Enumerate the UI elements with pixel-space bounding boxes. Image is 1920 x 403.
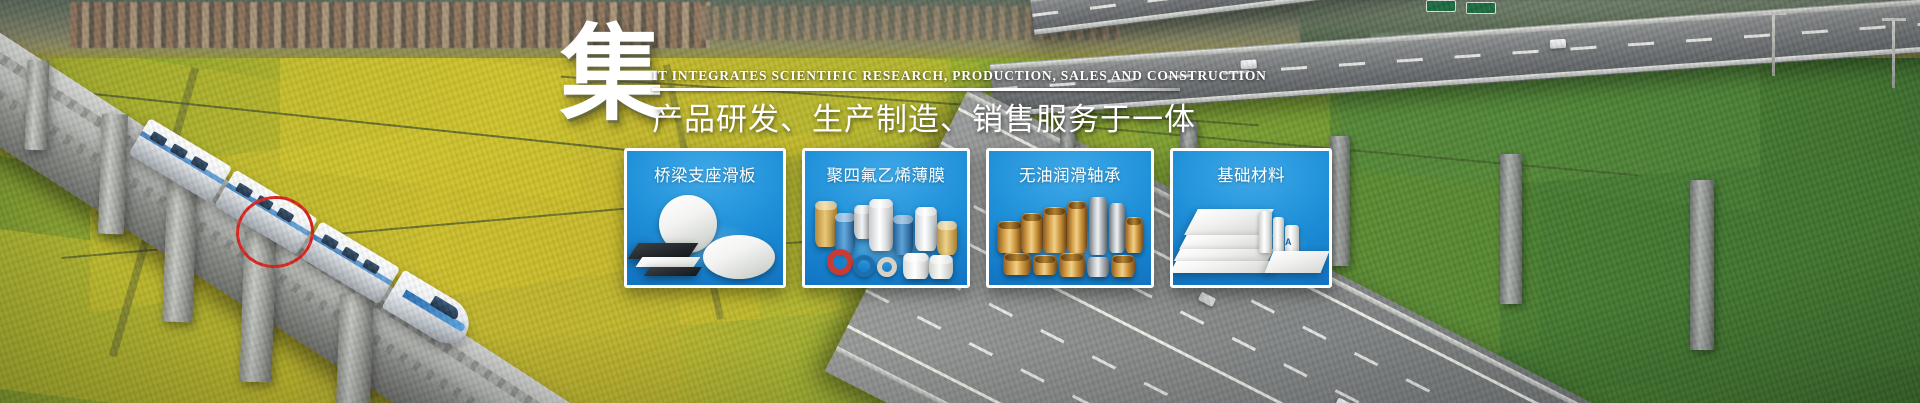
vehicle [1198,292,1216,307]
utility-pole [1772,12,1775,76]
bronze-bushing [997,221,1023,253]
bronze-bushing [1125,217,1143,253]
product-card-ptfe-film[interactable]: 聚四氟乙烯薄膜 [802,148,970,288]
material-sheet [1170,261,1278,273]
headline-block: 集 IT INTEGRATES SCIENTIFIC RESEARCH, PRO… [560,26,1180,136]
product-card-title: 无油润滑轴承 [989,151,1151,186]
highway-pier [1330,136,1350,266]
bronze-bushing [1043,207,1067,253]
bronze-bushing [1067,201,1087,253]
product-card-title: 聚四氟乙烯薄膜 [805,151,967,186]
vehicle [1550,39,1567,49]
product-card-list: 桥梁支座滑板 聚四氟乙烯薄膜 [624,148,1332,288]
product-card-title: 桥梁支座滑板 [627,151,783,186]
highway-sign [1426,0,1456,12]
slide-plate-disc [703,235,775,279]
headline-chinese-tagline: 产品研发、生产制造、销售服务于一体 [652,94,1196,139]
product-card-title: 基础材料 [1173,151,1329,186]
headline-divider-rule [652,88,1180,91]
film-roll [893,215,913,255]
ptfe-film-rolls-icon [805,191,967,285]
steel-bushing [1089,197,1107,255]
film-roll [937,221,957,255]
product-card-oil-free-bearing[interactable]: 无油润滑轴承 [986,148,1154,288]
film-roll [929,255,953,279]
bronze-bushing [1111,255,1135,277]
steel-bushing [1087,257,1109,277]
bridge-bearing-slide-plates-icon [627,191,783,285]
material-badge: A [1285,237,1292,247]
slide-plate-steel [644,267,702,276]
material-rod [1259,211,1272,253]
headline-big-character: 集 [560,22,664,126]
film-roll [915,207,937,251]
bronze-bushing [1059,253,1085,277]
bronze-bushing [1033,255,1057,275]
bronze-bushing [1003,253,1031,275]
highway-sign [1466,2,1496,14]
headline-english-tagline: IT INTEGRATES SCIENTIFIC RESEARCH, PRODU… [652,68,1180,84]
bronze-bushing [1021,213,1043,253]
railway-pier [24,60,49,151]
highway-pier [1500,154,1522,304]
film-roll [869,199,893,251]
highway-pier [1690,180,1714,350]
film-roll [835,213,855,253]
base-material-blocks-icon: A [1173,191,1329,285]
highway-edge-line [847,325,1811,403]
film-roll [903,253,929,279]
film-ring [877,257,897,277]
utility-pole [1892,18,1895,88]
steel-bushing [1109,203,1125,253]
film-ring [853,255,875,277]
film-roll [815,201,837,247]
hero-banner: 集 IT INTEGRATES SCIENTIFIC RESEARCH, PRO… [0,0,1920,403]
product-card-base-material[interactable]: 基础材料 A [1170,148,1332,288]
slide-plate-white [636,257,701,267]
oil-free-lubricated-bearings-icon [989,191,1151,285]
product-card-bridge-bearing-slide-plate[interactable]: 桥梁支座滑板 [624,148,786,288]
film-ring [827,249,853,275]
material-block [1265,251,1330,273]
material-rod [1273,217,1284,253]
